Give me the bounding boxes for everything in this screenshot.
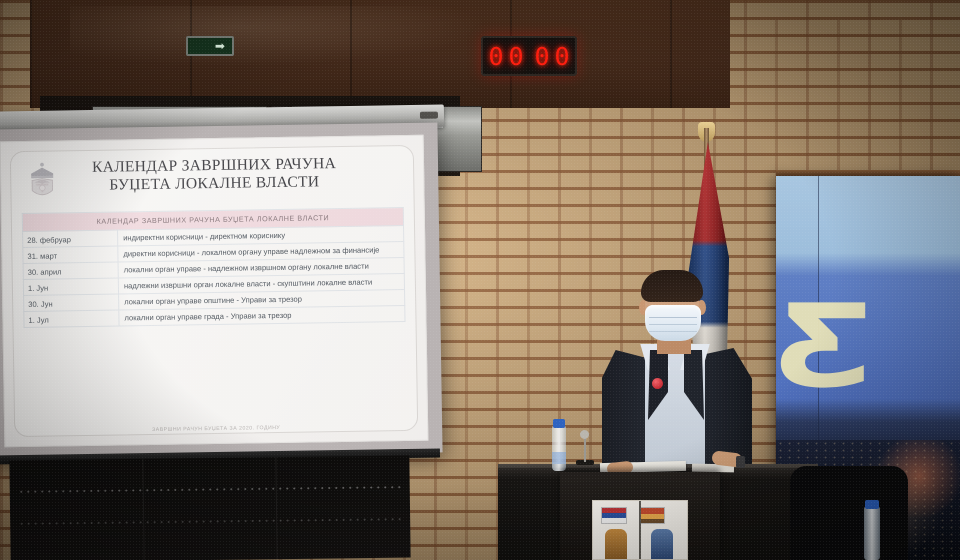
row-date: 28. фебруар — [23, 230, 118, 247]
lapel-pin — [652, 378, 663, 389]
wood-gloss-highlight — [70, 6, 490, 66]
wristwatch — [736, 456, 745, 468]
exit-arrow-icon: ➡ — [215, 40, 225, 52]
water-bottle-cap — [553, 419, 565, 428]
water-bottle-label — [552, 452, 566, 464]
banner-logo-icon: Ƹ — [776, 290, 875, 402]
row-date: 1. Јун — [23, 278, 118, 295]
running-person-icon — [195, 41, 201, 52]
water-bottle-secondary — [864, 506, 880, 560]
clock-digit: 0 — [508, 43, 524, 70]
water-bottle — [552, 425, 566, 471]
panel-stud-row — [18, 486, 402, 494]
clock-digit: 0 — [554, 43, 570, 70]
projection-screen: КАЛЕНДАР ЗАВРШНИХ РАЧУНА БУЏЕТА ЛОКАЛНЕ … — [0, 122, 443, 459]
water-bottle-secondary-cap — [865, 500, 879, 509]
screen-housing-endcap — [420, 112, 438, 119]
poster-flags — [601, 507, 665, 524]
office-chair — [790, 466, 908, 560]
slide-title: КАЛЕНДАР ЗАВРШНИХ РАЧУНА БУЏЕТА ЛОКАЛНЕ … — [65, 155, 364, 196]
presentation-slide: КАЛЕНДАР ЗАВРШНИХ РАЧУНА БУЏЕТА ЛОКАЛНЕ … — [0, 135, 428, 448]
lower-wall-panel — [9, 456, 410, 560]
digital-clock: 0 0 0 0 — [481, 36, 577, 76]
poster-figure-left — [605, 529, 627, 559]
poster-figure-right — [651, 529, 673, 559]
poster-divider — [639, 501, 641, 560]
clock-hours: 0 0 — [488, 43, 524, 70]
panel-stud-row — [18, 518, 402, 526]
slide-header: КАЛЕНДАР ЗАВРШНИХ РАЧУНА БУЏЕТА ЛОКАЛНЕ … — [21, 154, 404, 206]
poster-flag-right — [639, 507, 665, 524]
calendar-table: КАЛЕНДАР ЗАВРШНИХ РАЧУНА БУЏЕТА ЛОКАЛНЕ … — [22, 207, 406, 328]
row-date: 30. април — [23, 262, 118, 279]
podium-emblem-poster — [592, 500, 688, 560]
speaker-hair — [641, 270, 703, 302]
wood-panel-band — [30, 0, 730, 108]
row-description: локални орган управе града - Управи за т… — [119, 306, 405, 326]
clock-minutes: 0 0 — [534, 43, 570, 70]
microphone-stem — [584, 436, 586, 462]
conference-hall-scene: ➡ 0 0 0 0 — [0, 0, 960, 560]
row-date: 31. март — [23, 246, 118, 263]
row-date: 1. Јул — [24, 310, 119, 327]
clock-digit: 0 — [534, 43, 550, 70]
slide-footer: ЗАВРШНИ РАЧУН БУЏЕТА ЗА 2020. ГОДИНУ — [15, 423, 417, 435]
coat-of-arms-icon — [25, 159, 60, 206]
slide-title-line2: БУЏЕТА ЛОКАЛНЕ ВЛАСТИ — [65, 173, 363, 196]
poster-flag-left — [601, 507, 627, 524]
surgical-mask — [645, 305, 701, 341]
emergency-exit-sign: ➡ — [186, 36, 234, 56]
slide-content-area: КАЛЕНДАР ЗАВРШНИХ РАЧУНА БУЏЕТА ЛОКАЛНЕ … — [10, 145, 418, 437]
microphone-head — [580, 430, 589, 439]
row-date: 30. Јун — [24, 294, 119, 311]
clock-digit: 0 — [488, 43, 504, 70]
